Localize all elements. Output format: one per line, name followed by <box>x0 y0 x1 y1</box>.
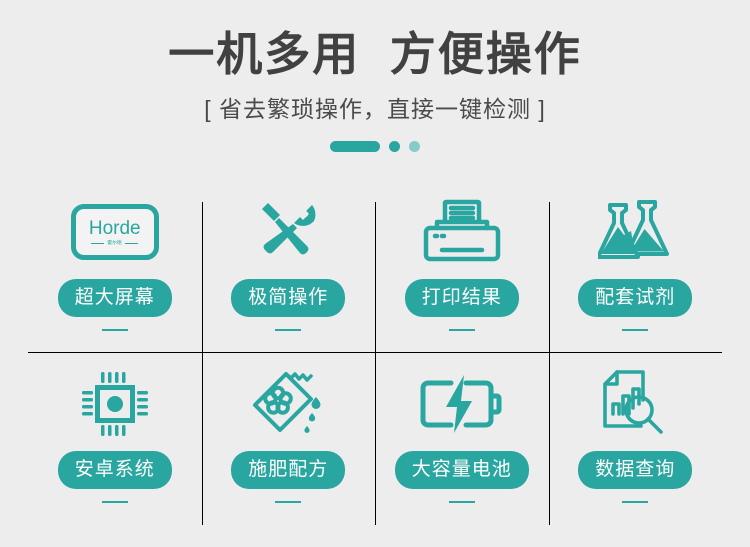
screen-logo-icon: Horde 霍尔德 <box>71 194 159 270</box>
feature-underline <box>622 501 648 503</box>
feature-cell-fertilizer[interactable]: 施肥配方 <box>202 352 376 524</box>
carousel-pager[interactable] <box>0 140 750 152</box>
header: 一机多用 方便操作 [ 省去繁琐操作，直接一键检测 ] <box>0 0 750 152</box>
feature-underline <box>275 329 301 331</box>
feature-badge-screen[interactable]: 超大屏幕 <box>58 279 172 317</box>
pager-dot-2[interactable] <box>389 141 400 152</box>
battery-charging-icon <box>420 366 504 442</box>
feature-badge-fertilizer[interactable]: 施肥配方 <box>231 451 345 489</box>
document-search-icon <box>599 366 671 442</box>
feature-underline <box>449 329 475 331</box>
feature-cell-simple-operation[interactable]: 极简操作 <box>202 180 376 352</box>
fertilizer-bag-icon <box>250 366 326 442</box>
feature-cell-reagent[interactable]: 配套试剂 <box>549 180 723 352</box>
feature-cell-print[interactable]: 打印结果 <box>375 180 549 352</box>
feature-cell-data-query[interactable]: 数据查询 <box>549 352 723 524</box>
logo-rule-right <box>125 243 138 244</box>
feature-underline <box>622 329 648 331</box>
feature-badge-reagent[interactable]: 配套试剂 <box>578 279 692 317</box>
cpu-chip-icon <box>80 366 150 442</box>
feature-underline <box>102 501 128 503</box>
feature-cell-battery[interactable]: 大容量电池 <box>375 352 549 524</box>
feature-cell-screen[interactable]: Horde 霍尔德 超大屏幕 <box>28 180 202 352</box>
page-subtitle: [ 省去繁琐操作，直接一键检测 ] <box>0 90 750 124</box>
feature-underline <box>275 501 301 503</box>
feature-grid: Horde 霍尔德 超大屏幕 <box>28 180 722 525</box>
page-title: 一机多用 方便操作 <box>0 30 750 78</box>
feature-cell-android[interactable]: 安卓系统 <box>28 352 202 524</box>
flasks-icon <box>598 194 672 270</box>
printer-icon <box>420 194 504 270</box>
feature-underline <box>449 501 475 503</box>
feature-underline <box>102 329 128 331</box>
logo-sub-text: 霍尔德 <box>108 241 122 246</box>
feature-badge-print[interactable]: 打印结果 <box>405 279 519 317</box>
logo-brand-text: Horde <box>89 219 141 238</box>
logo-rule-left <box>91 243 104 244</box>
wrench-screwdriver-icon <box>250 194 326 270</box>
feature-badge-data-query[interactable]: 数据查询 <box>578 451 692 489</box>
pager-dot-active[interactable] <box>330 141 380 152</box>
feature-badge-simple-operation[interactable]: 极简操作 <box>231 279 345 317</box>
feature-grid-wrapper: Horde 霍尔德 超大屏幕 <box>28 180 722 525</box>
feature-badge-android[interactable]: 安卓系统 <box>58 451 172 489</box>
pager-dot-3[interactable] <box>409 141 420 152</box>
feature-badge-battery[interactable]: 大容量电池 <box>395 451 529 489</box>
